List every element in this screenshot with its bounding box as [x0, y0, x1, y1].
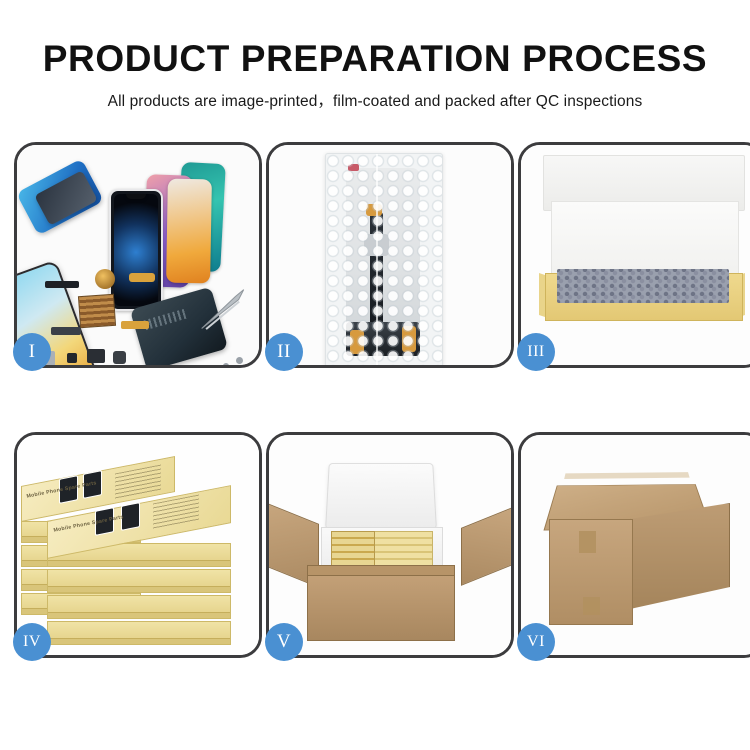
carton-tab-1 — [579, 531, 596, 553]
step-panel-4[interactable]: Mobile Phone Spare Parts Mobile Phone Sp… — [14, 432, 262, 658]
phone-notch — [126, 194, 146, 199]
wrap-seam — [376, 154, 378, 365]
step-badge-5: V — [265, 623, 303, 661]
screw-part-2 — [223, 363, 229, 365]
speaker-part — [87, 349, 105, 363]
flex-cable-part-3 — [121, 321, 149, 329]
camera-module-part — [95, 269, 115, 289]
page-subtitle: All products are image-printed，film-coat… — [0, 80, 750, 111]
step-image-2 — [269, 145, 511, 365]
grey-foam-padding — [557, 269, 729, 303]
carton-tab-2 — [583, 597, 600, 615]
phone-orange — [166, 179, 212, 284]
step-panel-1[interactable]: I — [14, 142, 262, 368]
chip-grid-part — [78, 294, 116, 328]
button-part — [67, 353, 77, 363]
flex-cable-part-2 — [51, 327, 81, 335]
step-badge-4: IV — [13, 623, 51, 661]
step-image-4: Mobile Phone Spare Parts Mobile Phone Sp… — [17, 435, 259, 655]
step-badge-2: II — [265, 333, 303, 371]
bubble-texture — [326, 154, 442, 365]
step-image-1 — [17, 145, 259, 365]
speaker-bar-part — [45, 281, 79, 288]
step-image-6 — [521, 435, 750, 655]
box-stack: Mobile Phone Spare Parts Mobile Phone Sp… — [17, 435, 259, 655]
step-panel-3[interactable]: III — [518, 142, 750, 368]
step-image-3 — [521, 145, 750, 365]
step-image-5 — [269, 435, 511, 655]
flex-cable-part-1 — [129, 273, 155, 282]
phone-front-glass — [109, 189, 163, 311]
step-badge-6: VI — [517, 623, 555, 661]
process-step-grid: I II — [14, 142, 736, 684]
page-title: PRODUCT PREPARATION PROCESS — [0, 0, 750, 80]
screw-part-1 — [236, 357, 243, 364]
box-lid-front — [551, 201, 739, 279]
step-panel-6[interactable]: VI — [518, 432, 750, 658]
step-panel-5[interactable]: V — [266, 432, 514, 658]
step-badge-1: I — [13, 333, 51, 371]
step-panel-2[interactable]: II — [266, 142, 514, 368]
foam-lid — [325, 463, 437, 529]
page-header: PRODUCT PREPARATION PROCESS All products… — [0, 0, 750, 111]
bubble-wrap-package — [325, 153, 443, 365]
step-badge-3: III — [517, 333, 555, 371]
camera-part-2 — [113, 351, 126, 364]
carton-body — [307, 575, 455, 641]
